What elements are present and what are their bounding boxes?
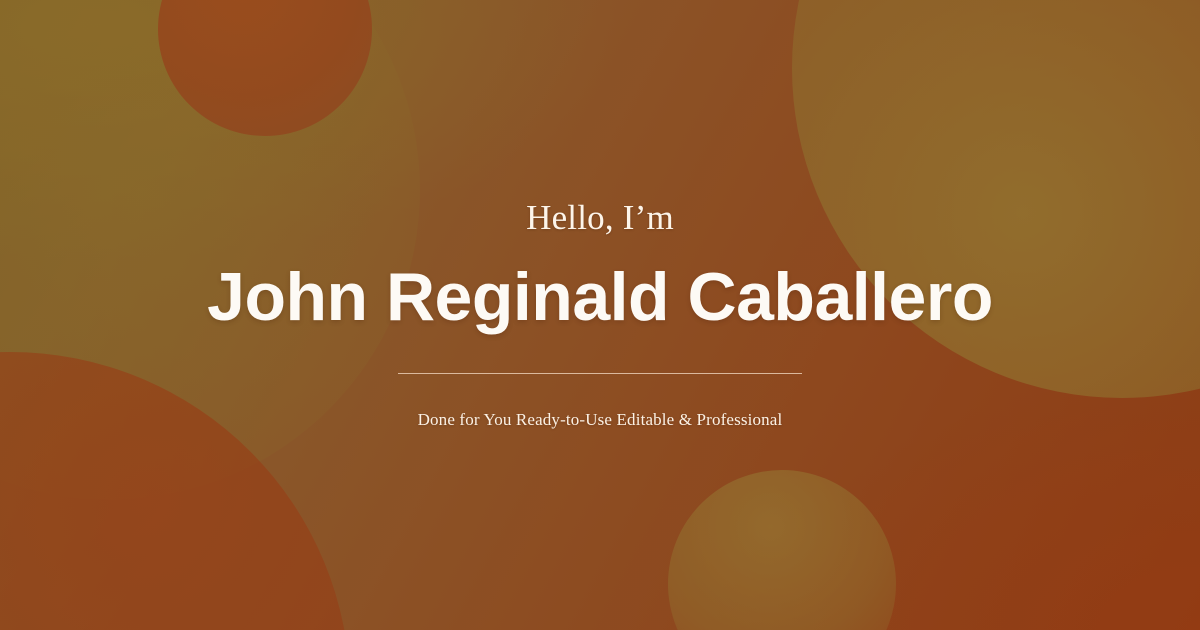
divider — [398, 373, 802, 374]
greeting-text: Hello, I’m — [526, 200, 674, 235]
intro-slide: Hello, I’m John Reginald Caballero Done … — [0, 0, 1200, 630]
tagline-text: Done for You Ready-to-Use Editable & Pro… — [418, 410, 783, 430]
slide-content: Hello, I’m John Reginald Caballero Done … — [0, 0, 1200, 630]
page-title: John Reginald Caballero — [207, 261, 993, 333]
